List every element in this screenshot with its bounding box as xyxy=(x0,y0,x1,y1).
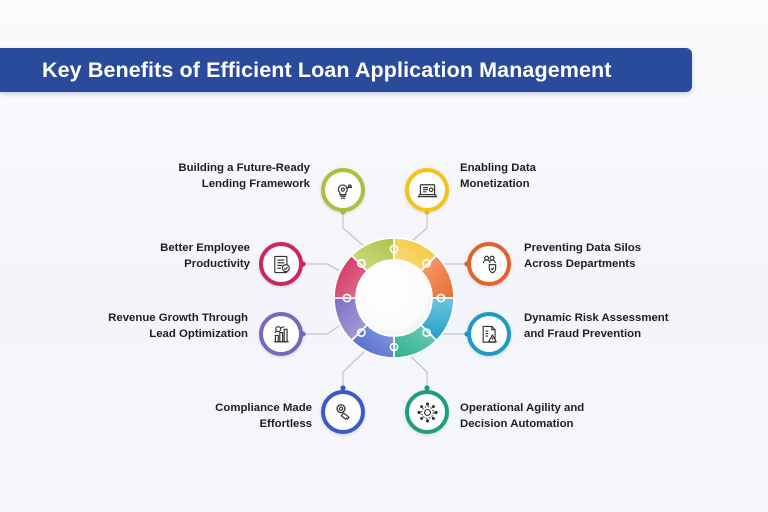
laptop-data-icon xyxy=(416,179,439,202)
risk-document-warning-icon xyxy=(478,323,501,346)
node-label-compliance-made-effortless: Compliance Made Effortless xyxy=(170,400,312,432)
page-title-banner: Key Benefits of Efficient Loan Applicati… xyxy=(0,48,692,92)
gear-network-icon xyxy=(416,401,439,424)
node-label-preventing-data-silos-across-departments: Preventing Data Silos Across Departments xyxy=(524,240,744,272)
ring-center-disc xyxy=(357,261,431,335)
shield-people-icon xyxy=(478,253,501,276)
award-badge-icon-circle[interactable] xyxy=(321,390,365,434)
award-badge-icon xyxy=(332,401,355,424)
central-puzzle-ring xyxy=(332,236,456,360)
node-label-operational-agility-and-decision-automation: Operational Agility and Decision Automat… xyxy=(460,400,675,432)
growth-chart-icon-circle[interactable] xyxy=(259,312,303,356)
checklist-document-icon-circle[interactable] xyxy=(259,242,303,286)
gear-network-icon-circle[interactable] xyxy=(405,390,449,434)
node-label-dynamic-risk-assessment-and-fraud-prevention: Dynamic Risk Assessment and Fraud Preven… xyxy=(524,310,754,342)
lightbulb-gear-icon-circle[interactable] xyxy=(321,168,365,212)
lightbulb-gear-icon xyxy=(332,179,355,202)
node-label-revenue-growth-through-lead-optimization: Revenue Growth Through Lead Optimization xyxy=(58,310,248,342)
node-label-building-future-ready-lending-framework: Building a Future-Ready Lending Framewor… xyxy=(120,160,310,192)
checklist-document-icon xyxy=(270,253,293,276)
page-title: Key Benefits of Efficient Loan Applicati… xyxy=(0,58,612,83)
growth-chart-icon xyxy=(270,323,293,346)
node-label-enabling-data-monetization: Enabling Data Monetization xyxy=(460,160,660,192)
risk-document-warning-icon-circle[interactable] xyxy=(467,312,511,356)
node-label-better-employee-productivity: Better Employee Productivity xyxy=(110,240,250,272)
infographic-canvas: Key Benefits of Efficient Loan Applicati… xyxy=(0,0,768,512)
laptop-data-icon-circle[interactable] xyxy=(405,168,449,212)
shield-people-icon-circle[interactable] xyxy=(467,242,511,286)
